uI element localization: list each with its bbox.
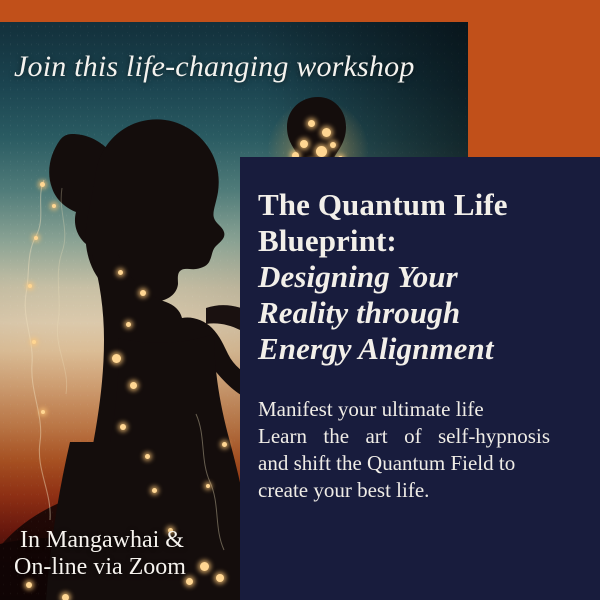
fairy-light-spark xyxy=(28,284,32,288)
location-line-1: In Mangawhai & xyxy=(14,527,244,554)
poster-root: Join this life-changing workshop In Mang… xyxy=(0,0,600,600)
fairy-light-spark xyxy=(112,354,121,363)
description-line-4: create your best life. xyxy=(258,477,580,504)
bulb-spark xyxy=(308,120,315,127)
fairy-light-spark xyxy=(62,594,69,600)
title-line-2: Blueprint: xyxy=(258,223,580,259)
bulb-spark xyxy=(316,146,327,157)
fairy-light-spark xyxy=(118,270,123,275)
title-line-1: The Quantum Life xyxy=(258,187,580,223)
bulb-spark xyxy=(300,140,308,148)
fairy-light-spark xyxy=(52,204,56,208)
workshop-title: The Quantum Life Blueprint: Designing Yo… xyxy=(258,187,580,367)
fairy-light-spark xyxy=(126,322,131,327)
headline-text: Join this life-changing workshop xyxy=(14,50,464,84)
navy-content-panel: The Quantum Life Blueprint: Designing Yo… xyxy=(240,157,600,600)
fairy-light-spark xyxy=(120,424,126,430)
description-line-2: Learn the art of self-hypnosis xyxy=(258,423,550,450)
description-line-3: and shift the Quantum Field to xyxy=(258,450,580,477)
bulb-spark xyxy=(330,142,336,148)
fairy-light-spark xyxy=(32,340,36,344)
workshop-description: Manifest your ultimate life Learn the ar… xyxy=(258,396,580,504)
title-line-3: Designing Your xyxy=(258,259,580,295)
title-line-5: Energy Alignment xyxy=(258,331,580,367)
fairy-light-spark xyxy=(140,290,146,296)
fairy-light-spark xyxy=(34,236,38,240)
fairy-light-spark xyxy=(206,484,210,488)
fairy-light-spark xyxy=(40,182,45,187)
location-block: In Mangawhai & On-line via Zoom xyxy=(14,527,244,581)
title-line-4: Reality through xyxy=(258,295,580,331)
fairy-light-spark xyxy=(145,454,150,459)
description-line-1: Manifest your ultimate life xyxy=(258,396,580,423)
fairy-light-spark xyxy=(152,488,157,493)
location-line-2: On-line via Zoom xyxy=(14,554,244,581)
fairy-light-spark xyxy=(26,582,32,588)
fairy-light-spark xyxy=(41,410,45,414)
bulb-spark xyxy=(322,128,331,137)
fairy-light-spark xyxy=(222,442,227,447)
fairy-light-spark xyxy=(130,382,137,389)
panel-inner: The Quantum Life Blueprint: Designing Yo… xyxy=(240,157,600,504)
